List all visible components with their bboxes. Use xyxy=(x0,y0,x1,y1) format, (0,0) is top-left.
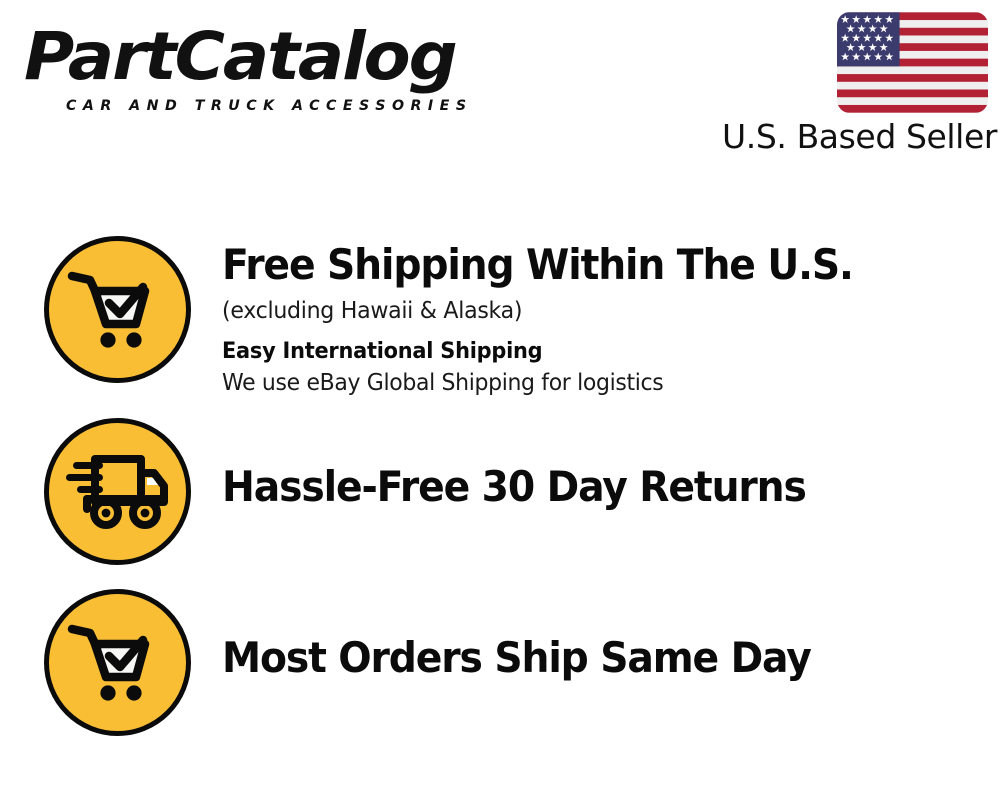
feature-text-block: Most Orders Ship Same Day xyxy=(222,589,1000,683)
brand-wordmark: PartCatalog xyxy=(24,22,513,92)
us-based-seller-label: U.S. Based Seller xyxy=(722,117,988,157)
feature-title: Most Orders Ship Same Day xyxy=(222,633,949,683)
feature-item: Free Shipping Within The U.S. (excluding… xyxy=(0,236,1000,398)
us-flag-icon xyxy=(837,12,988,113)
feature-item: Hassle-Free 30 Day Returns xyxy=(0,418,1000,565)
shopping-cart-check-icon xyxy=(44,236,191,383)
shopping-cart-check-icon xyxy=(44,589,191,736)
brand-logo: PartCatalog CAR AND TRUCK ACCESSORIES xyxy=(24,22,494,122)
feature-title: Hassle-Free 30 Day Returns xyxy=(222,462,949,512)
feature-secondary-heading: Easy International Shipping xyxy=(222,338,961,366)
feature-subtitle: (excluding Hawaii & Alaska) xyxy=(222,296,969,326)
feature-title: Free Shipping Within The U.S. xyxy=(222,240,949,290)
brand-tagline: CAR AND TRUCK ACCESSORIES xyxy=(66,98,473,114)
feature-secondary-text: We use eBay Global Shipping for logistic… xyxy=(222,368,965,398)
delivery-truck-icon xyxy=(44,418,191,565)
feature-text-block: Free Shipping Within The U.S. (excluding… xyxy=(222,236,1000,398)
feature-item: Most Orders Ship Same Day xyxy=(0,589,1000,736)
feature-text-block: Hassle-Free 30 Day Returns xyxy=(222,418,1000,512)
